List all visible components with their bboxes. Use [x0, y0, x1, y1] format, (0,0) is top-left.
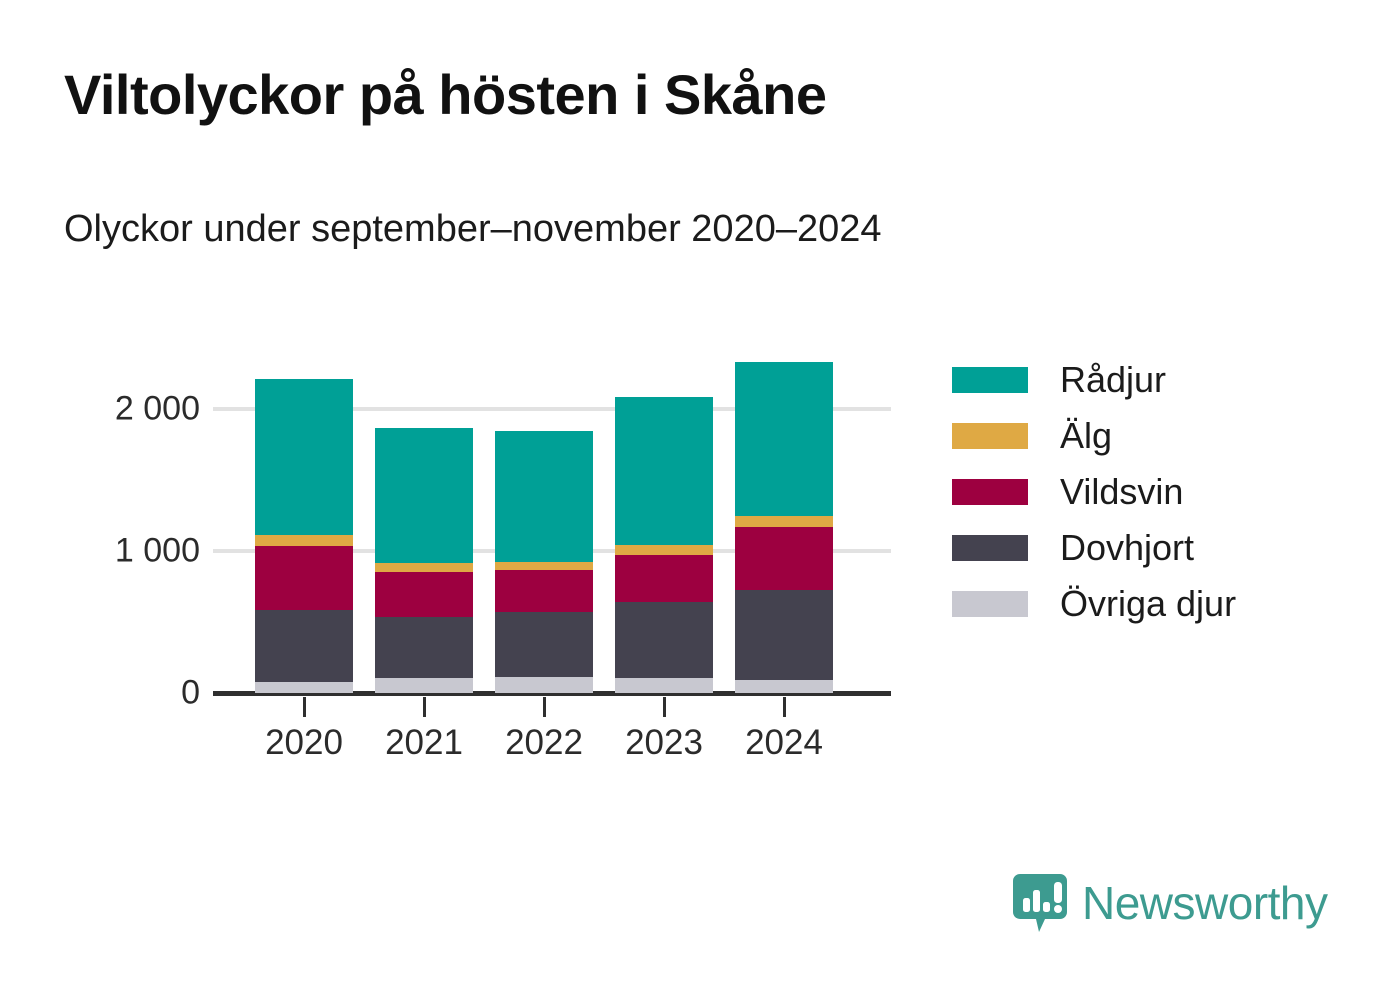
bar-segment[interactable]: [255, 610, 353, 682]
bar-segment[interactable]: [255, 535, 353, 546]
bar-segment[interactable]: [375, 572, 473, 617]
bar-segment[interactable]: [375, 428, 473, 563]
bar-segment[interactable]: [615, 397, 713, 545]
legend-item[interactable]: Övriga djur: [952, 576, 1236, 632]
x-tick-mark: [783, 697, 786, 717]
newsworthy-bubble-chart-icon: [1012, 872, 1068, 934]
bar-segment[interactable]: [735, 680, 833, 693]
x-tick-mark: [303, 697, 306, 717]
legend-label: Rådjur: [1060, 359, 1166, 401]
x-tick-mark: [543, 697, 546, 717]
bar-segment[interactable]: [255, 682, 353, 693]
chart-legend: RådjurÄlgVildsvinDovhjortÖvriga djur: [952, 352, 1236, 632]
bar-segment[interactable]: [735, 362, 833, 516]
x-tick-mark: [423, 697, 426, 717]
legend-swatch: [952, 423, 1028, 449]
newsworthy-wordmark: Newsworthy: [1082, 876, 1328, 930]
legend-swatch: [952, 535, 1028, 561]
bar-segment[interactable]: [615, 555, 713, 602]
bar-segment[interactable]: [495, 612, 593, 677]
bar-segment[interactable]: [735, 527, 833, 590]
newsworthy-logo: Newsworthy: [1012, 872, 1328, 934]
bar-segment[interactable]: [375, 617, 473, 678]
bar-segment[interactable]: [615, 545, 713, 555]
bar-segment[interactable]: [495, 562, 593, 570]
legend-swatch: [952, 479, 1028, 505]
legend-label: Dovhjort: [1060, 527, 1194, 569]
x-tick-mark: [663, 697, 666, 717]
bar-segment[interactable]: [735, 516, 833, 527]
bar-segment[interactable]: [495, 570, 593, 612]
legend-item[interactable]: Älg: [952, 408, 1236, 464]
legend-label: Älg: [1060, 415, 1112, 457]
bar-segment[interactable]: [495, 431, 593, 562]
bar-segment[interactable]: [375, 563, 473, 572]
bar-segment[interactable]: [615, 678, 713, 693]
legend-label: Vildsvin: [1060, 471, 1183, 513]
bar-segment[interactable]: [255, 546, 353, 610]
legend-swatch: [952, 591, 1028, 617]
bar-segment[interactable]: [375, 678, 473, 693]
legend-item[interactable]: Rådjur: [952, 352, 1236, 408]
legend-swatch: [952, 367, 1028, 393]
legend-item[interactable]: Dovhjort: [952, 520, 1236, 576]
bar-segment[interactable]: [735, 590, 833, 680]
legend-label: Övriga djur: [1060, 583, 1236, 625]
x-tick-label: 2024: [704, 723, 864, 763]
bar-segment[interactable]: [495, 677, 593, 693]
bar-segment[interactable]: [615, 602, 713, 678]
legend-item[interactable]: Vildsvin: [952, 464, 1236, 520]
bar-segment[interactable]: [255, 379, 353, 535]
